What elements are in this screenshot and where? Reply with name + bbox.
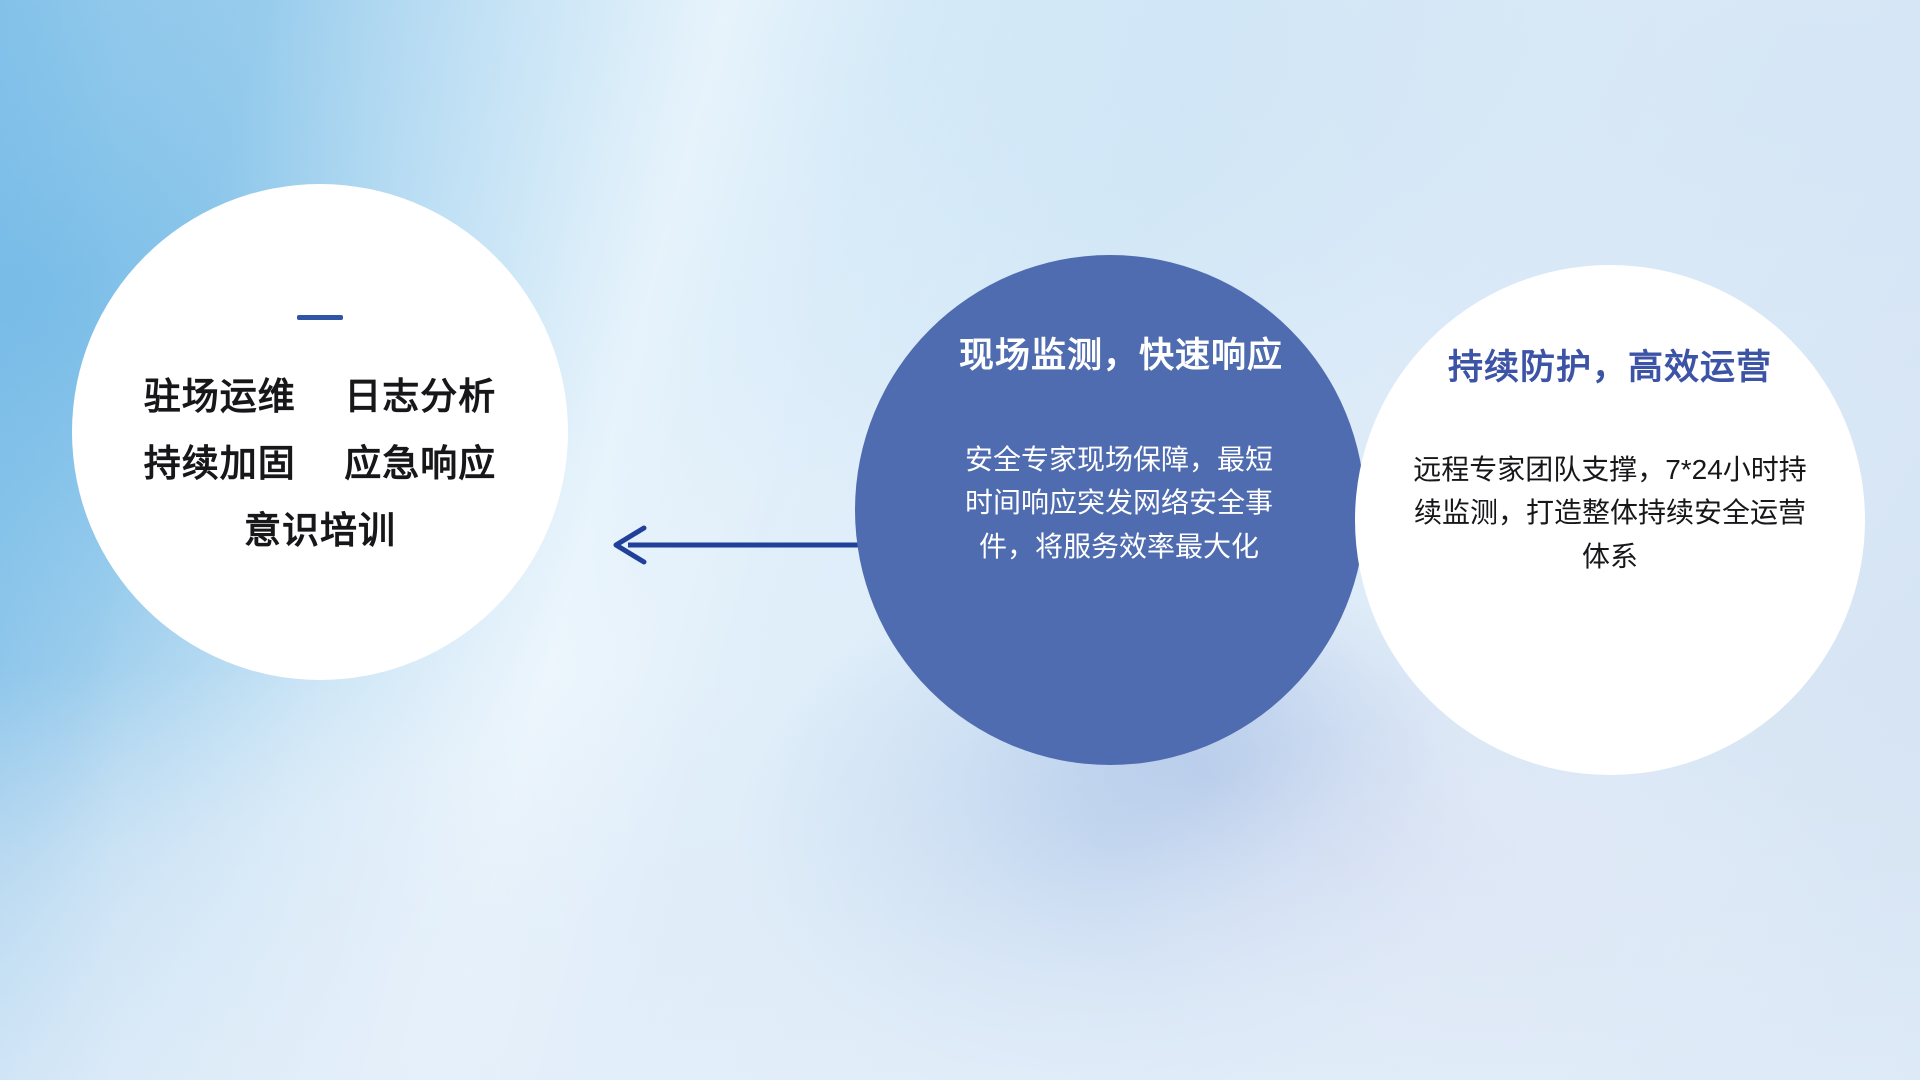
capability-keyword-row: 意识培训 bbox=[244, 512, 396, 549]
onsite-title: 现场监测，快速响应 bbox=[959, 327, 1283, 378]
arrow-left-glyph bbox=[616, 528, 885, 562]
capability-keyword: 驻场运维 bbox=[144, 376, 296, 417]
capability-keyword: 应急响应 bbox=[344, 443, 496, 484]
capability-keyword: 日志分析 bbox=[344, 376, 496, 417]
continuous-description: 远程专家团队支撑，7*24小时持续监测，打造整体持续安全运营体系 bbox=[1410, 448, 1810, 578]
horizontal-dash-divider-icon bbox=[297, 315, 343, 320]
slide-canvas: 驻场运维 日志分析 持续加固 应急响应 意识培训 现场监测，快速响应 安全专家现… bbox=[0, 0, 1920, 1080]
service-circle-continuous: 持续防护，高效运营 远程专家团队支撑，7*24小时持续监测，打造整体持续安全运营… bbox=[1355, 265, 1865, 775]
capability-keyword: 持续加固 bbox=[144, 443, 296, 484]
left-circle-content: 驻场运维 日志分析 持续加固 应急响应 意识培训 bbox=[72, 184, 568, 680]
service-circle-onsite: 现场监测，快速响应 安全专家现场保障，最短时间响应突发网络安全事件，将服务效率最… bbox=[855, 255, 1365, 765]
capability-keyword-row: 驻场运维 日志分析 bbox=[144, 378, 497, 415]
continuous-title: 持续防护，高效运营 bbox=[1448, 339, 1772, 390]
capability-keyword-list: 驻场运维 日志分析 持续加固 应急响应 意识培训 bbox=[144, 378, 497, 549]
capability-circle-left: 驻场运维 日志分析 持续加固 应急响应 意识培训 bbox=[72, 184, 568, 680]
capability-keyword-row: 持续加固 应急响应 bbox=[144, 445, 497, 482]
middle-circle-content: 现场监测，快速响应 安全专家现场保障，最短时间响应突发网络安全事件，将服务效率最… bbox=[855, 255, 1365, 765]
onsite-description: 安全专家现场保障，最短时间响应突发网络安全事件，将服务效率最大化 bbox=[959, 438, 1279, 568]
right-circle-content: 持续防护，高效运营 远程专家团队支撑，7*24小时持续监测，打造整体持续安全运营… bbox=[1355, 265, 1865, 775]
capability-keyword: 意识培训 bbox=[244, 510, 396, 551]
arrow-left-icon bbox=[600, 515, 890, 575]
